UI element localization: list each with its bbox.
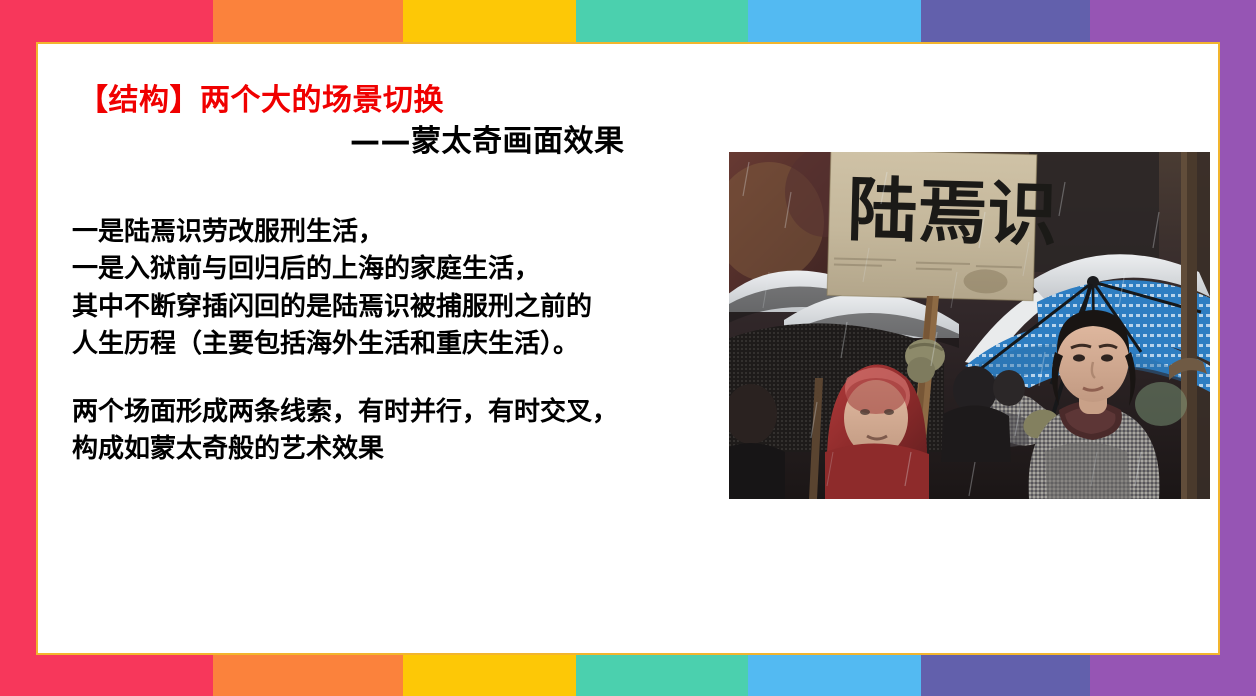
paragraph-one-line-1: 一是陆焉识劳改服刑生活，: [72, 214, 732, 251]
sign-text: 陆焉识: [846, 169, 1058, 256]
paragraph-one-line-4: 人生历程（主要包括海外生活和重庆生活）。: [72, 326, 732, 363]
film-still-photo: 陆焉识: [729, 152, 1210, 499]
paragraph-one: 一是陆焉识劳改服刑生活， 一是入狱前与回归后的上海的家庭生活， 其中不断穿插闪回…: [72, 214, 732, 364]
paragraph-two: 两个场面形成两条线索，有时并行，有时交叉， 构成如蒙太奇般的艺术效果: [72, 394, 732, 469]
slide-canvas: 【结构】两个大的场景切换 ——蒙太奇画面效果 一是陆焉识劳改服刑生活， 一是入狱…: [0, 0, 1256, 696]
page-title: 【结构】两个大的场景切换 ——蒙太奇画面效果: [78, 82, 1078, 160]
body-text-block: 一是陆焉识劳改服刑生活， 一是入狱前与回归后的上海的家庭生活， 其中不断穿插闪回…: [72, 214, 732, 469]
paragraph-two-line-2: 构成如蒙太奇般的艺术效果: [72, 431, 732, 468]
paragraph-two-line-1: 两个场面形成两条线索，有时并行，有时交叉，: [72, 394, 732, 431]
paragraph-spacer: [72, 364, 732, 394]
title-line-primary: 【结构】两个大的场景切换: [78, 82, 1078, 119]
paragraph-one-line-2: 一是入狱前与回归后的上海的家庭生活，: [72, 251, 732, 288]
paragraph-one-line-3: 其中不断穿插闪回的是陆焉识被捕服刑之前的: [72, 289, 732, 326]
content-card: 【结构】两个大的场景切换 ——蒙太奇画面效果 一是陆焉识劳改服刑生活， 一是入狱…: [36, 42, 1220, 655]
